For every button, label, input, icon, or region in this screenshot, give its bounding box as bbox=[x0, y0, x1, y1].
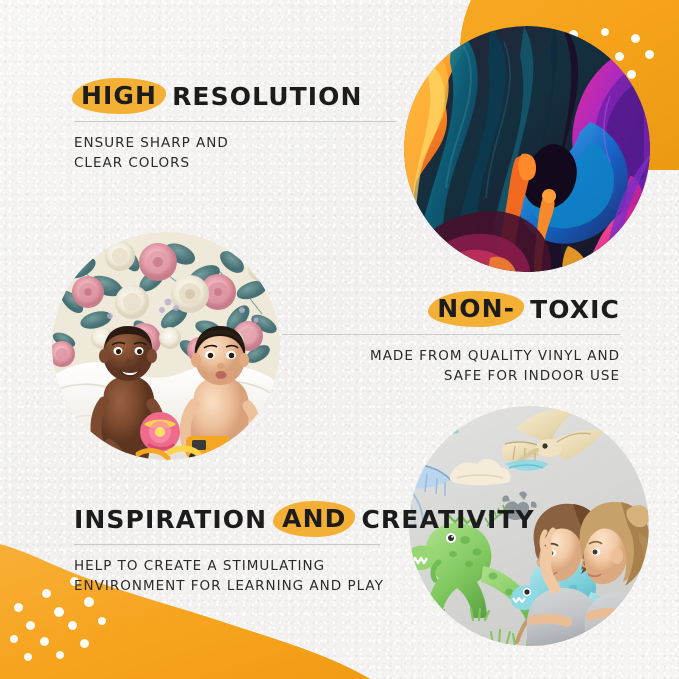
feature-block-high-resolution: HIGH RESOLUTION ENSURE SHARP AND CLEAR C… bbox=[74, 82, 404, 173]
feature-title-non-toxic: NON- TOXIC bbox=[282, 295, 620, 323]
title-highlight-and: AND bbox=[275, 505, 353, 533]
feature-subtitle-inspiration-creativity: HELP TO CREATE A STIMULATING ENVIRONMENT… bbox=[74, 557, 404, 596]
title-rest-resolution: RESOLUTION bbox=[172, 84, 362, 109]
title-rest-toxic: TOXIC bbox=[530, 297, 620, 322]
title-highlight-high: HIGH bbox=[74, 82, 164, 110]
feature-title-inspiration-creativity: INSPIRATION AND CREATIVITY bbox=[74, 505, 404, 533]
feature-block-inspiration-creativity: INSPIRATION AND CREATIVITY HELP TO CREAT… bbox=[74, 505, 404, 596]
photo-babies-floral-wall bbox=[52, 232, 280, 460]
feature-title-high-resolution: HIGH RESOLUTION bbox=[74, 82, 404, 110]
title-highlight-non: NON- bbox=[430, 295, 522, 323]
infographic-canvas: HIGH RESOLUTION ENSURE SHARP AND CLEAR C… bbox=[0, 0, 679, 679]
feature-block-non-toxic: NON- TOXIC MADE FROM QUALITY VINYL AND S… bbox=[282, 295, 620, 386]
title-before-inspiration: INSPIRATION bbox=[74, 507, 267, 532]
photo-abstract-fluid-art bbox=[404, 26, 650, 272]
feature-divider-high-resolution bbox=[74, 121, 396, 122]
feature-divider-inspiration-creativity bbox=[74, 544, 380, 545]
title-rest-creativity: CREATIVITY bbox=[361, 507, 534, 532]
feature-divider-non-toxic bbox=[282, 334, 620, 335]
feature-subtitle-high-resolution: ENSURE SHARP AND CLEAR COLORS bbox=[74, 134, 404, 173]
feature-subtitle-non-toxic: MADE FROM QUALITY VINYL AND SAFE FOR IND… bbox=[282, 347, 620, 386]
